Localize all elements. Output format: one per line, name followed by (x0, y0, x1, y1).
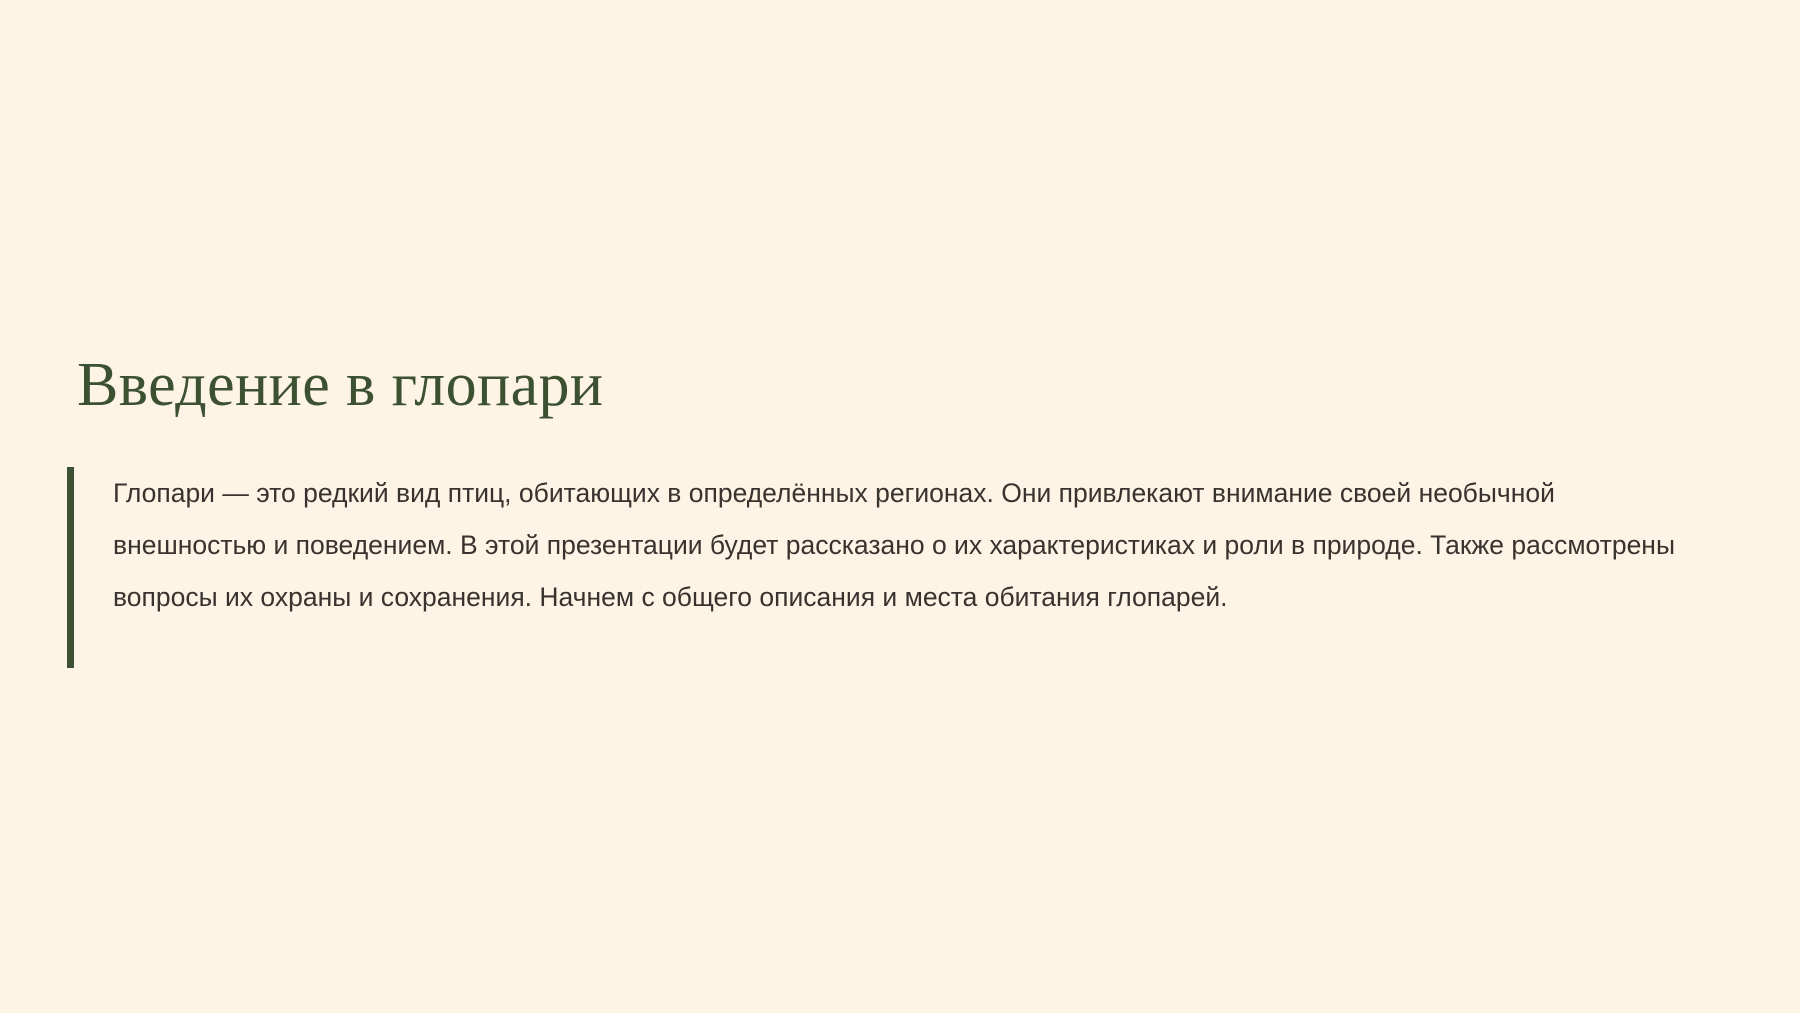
body-paragraph: Глопари — это редкий вид птиц, обитающих… (113, 467, 1713, 623)
accent-bar (67, 467, 74, 668)
page-title: Введение в глопари (77, 352, 603, 419)
slide-content: Введение в глопари Глопари — это редкий … (0, 0, 1800, 1013)
body-text-container: Глопари — это редкий вид птиц, обитающих… (74, 467, 1717, 668)
body-callout-block: Глопари — это редкий вид птиц, обитающих… (67, 467, 1717, 668)
presentation-slide: Введение в глопари Глопари — это редкий … (0, 0, 1800, 1013)
